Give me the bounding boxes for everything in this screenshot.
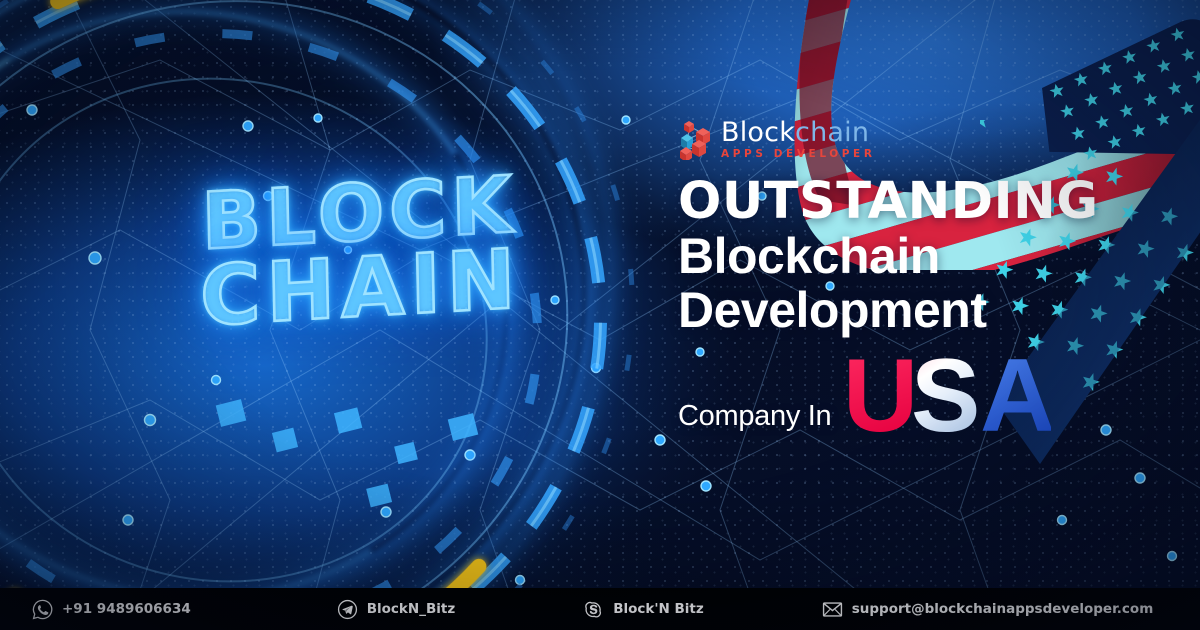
promo-banner: BLOCK CHAIN: [0, 0, 1200, 630]
vignette-overlay: [0, 0, 1200, 630]
